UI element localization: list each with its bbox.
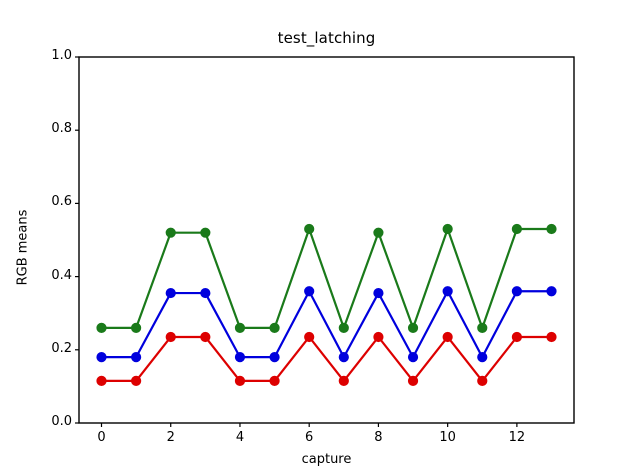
series-B	[97, 287, 556, 362]
data-point	[478, 323, 487, 332]
data-point	[512, 332, 521, 341]
data-point	[270, 353, 279, 362]
data-point	[374, 288, 383, 297]
data-point	[132, 323, 141, 332]
data-point	[132, 376, 141, 385]
data-point	[97, 353, 106, 362]
data-point	[166, 332, 175, 341]
data-point	[235, 353, 244, 362]
data-point	[166, 228, 175, 237]
data-point	[547, 287, 556, 296]
data-point	[201, 228, 210, 237]
data-point	[235, 323, 244, 332]
data-point	[443, 287, 452, 296]
plot-canvas	[0, 0, 635, 476]
data-point	[97, 376, 106, 385]
data-point	[339, 323, 348, 332]
data-point	[512, 287, 521, 296]
data-point	[512, 224, 521, 233]
data-point	[374, 332, 383, 341]
series-R	[97, 332, 556, 385]
data-point	[166, 288, 175, 297]
data-point	[97, 323, 106, 332]
data-point	[374, 228, 383, 237]
data-point	[270, 376, 279, 385]
data-point	[478, 353, 487, 362]
data-point	[201, 288, 210, 297]
data-point	[408, 323, 417, 332]
data-point	[339, 353, 348, 362]
data-point	[547, 332, 556, 341]
data-point	[305, 224, 314, 233]
data-point	[305, 332, 314, 341]
matplotlib-figure: test_latching RGB means capture 0.00.20.…	[0, 0, 635, 476]
data-point	[478, 376, 487, 385]
data-point	[547, 224, 556, 233]
data-point	[235, 376, 244, 385]
series-G	[97, 224, 556, 332]
data-point	[132, 353, 141, 362]
axis-tick-marks	[75, 57, 517, 427]
data-point	[443, 224, 452, 233]
data-point	[270, 323, 279, 332]
axes-frame	[79, 57, 574, 423]
data-point	[443, 332, 452, 341]
data-series-layer	[97, 224, 556, 385]
data-point	[408, 376, 417, 385]
data-point	[339, 376, 348, 385]
data-point	[201, 332, 210, 341]
data-point	[305, 287, 314, 296]
data-point	[408, 353, 417, 362]
